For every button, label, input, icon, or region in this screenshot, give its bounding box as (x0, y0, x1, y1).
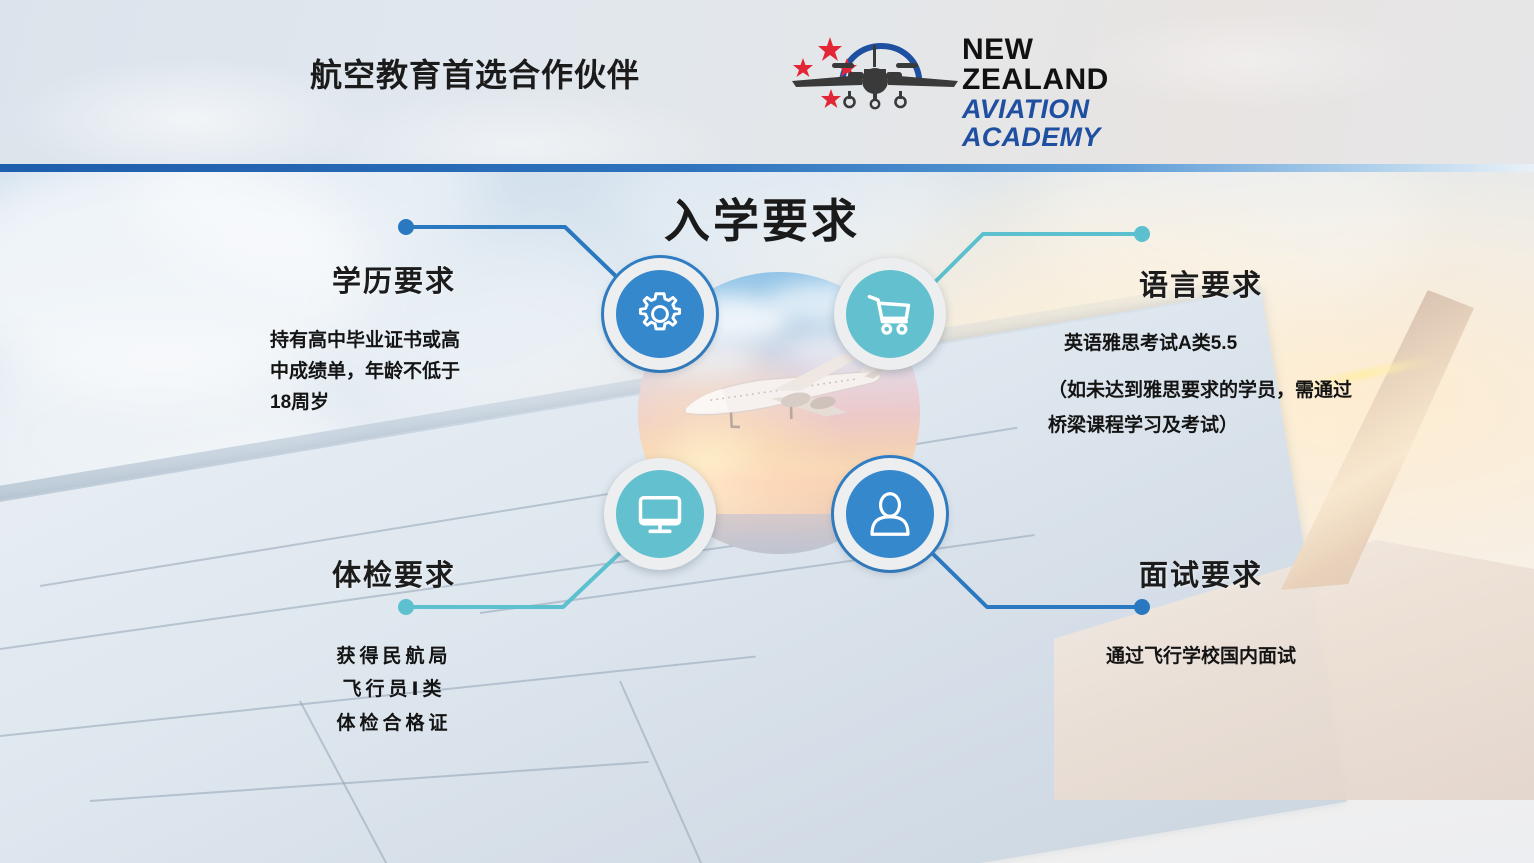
page-title-text: 入学要求 (664, 185, 860, 251)
header-divider-bar (0, 164, 1534, 172)
section-education: 学历要求 持有高中毕业证书或高中成绩单，年龄不低于18周岁 (244, 258, 544, 418)
monitor-icon (616, 470, 704, 558)
icon-node-education[interactable] (604, 258, 716, 370)
logo-wordmark: NEW ZEALAND AVIATION ACADEMY (962, 35, 1176, 152)
header-tagline: 航空教育首选合作伙伴 (310, 50, 640, 96)
section-language-body-line-1: 英语雅思考试A类5.5 (1064, 326, 1366, 361)
page-title: 入学要求 (0, 185, 1534, 251)
section-language-body: 英语雅思考试A类5.5 （如未达到雅思要求的学员，需通过桥梁课程学习及考试） (1036, 326, 1366, 443)
section-medical-body-line-1: 获得民航局 (244, 640, 544, 673)
person-icon (846, 470, 934, 558)
logo-line-2: AVIATION ACADEMY (962, 95, 1176, 152)
airplane-logo-icon (786, 25, 966, 110)
section-interview-body: 通过飞行学校国内面试 (1036, 642, 1366, 673)
header-cloud-texture (0, 0, 1534, 164)
section-language-body-line-2: （如未达到雅思要求的学员，需通过桥梁课程学习及考试） (1048, 373, 1366, 443)
section-education-body: 持有高中毕业证书或高中成绩单，年龄不低于18周岁 (270, 326, 460, 418)
icon-node-interview[interactable] (834, 458, 946, 570)
section-medical-body-line-3: 体检合格证 (244, 707, 544, 740)
section-medical-heading: 体检要求 (244, 552, 544, 594)
gear-icon (616, 270, 704, 358)
brand-logo[interactable]: NEW ZEALAND AVIATION ACADEMY (786, 25, 1176, 110)
airliner-in-flight-icon (672, 354, 898, 450)
section-medical-body-line-2: 飞行员Ⅰ类 (244, 673, 544, 706)
section-interview-heading: 面试要求 (1036, 552, 1366, 594)
icon-node-language[interactable] (834, 258, 946, 370)
shopping-cart-icon (846, 270, 934, 358)
section-interview: 面试要求 通过飞行学校国内面试 (1036, 552, 1366, 673)
section-language: 语言要求 英语雅思考试A类5.5 （如未达到雅思要求的学员，需通过桥梁课程学习及… (1036, 262, 1366, 443)
section-education-heading: 学历要求 (244, 258, 544, 300)
icon-node-medical[interactable] (604, 458, 716, 570)
slide-canvas: 航空教育首选合作伙伴 (0, 0, 1534, 863)
header-banner (0, 0, 1534, 164)
section-language-heading: 语言要求 (1036, 262, 1366, 304)
section-medical-body: 获得民航局 飞行员Ⅰ类 体检合格证 (244, 640, 544, 740)
logo-line-1: NEW ZEALAND (962, 35, 1176, 95)
section-medical: 体检要求 获得民航局 飞行员Ⅰ类 体检合格证 (244, 552, 544, 740)
